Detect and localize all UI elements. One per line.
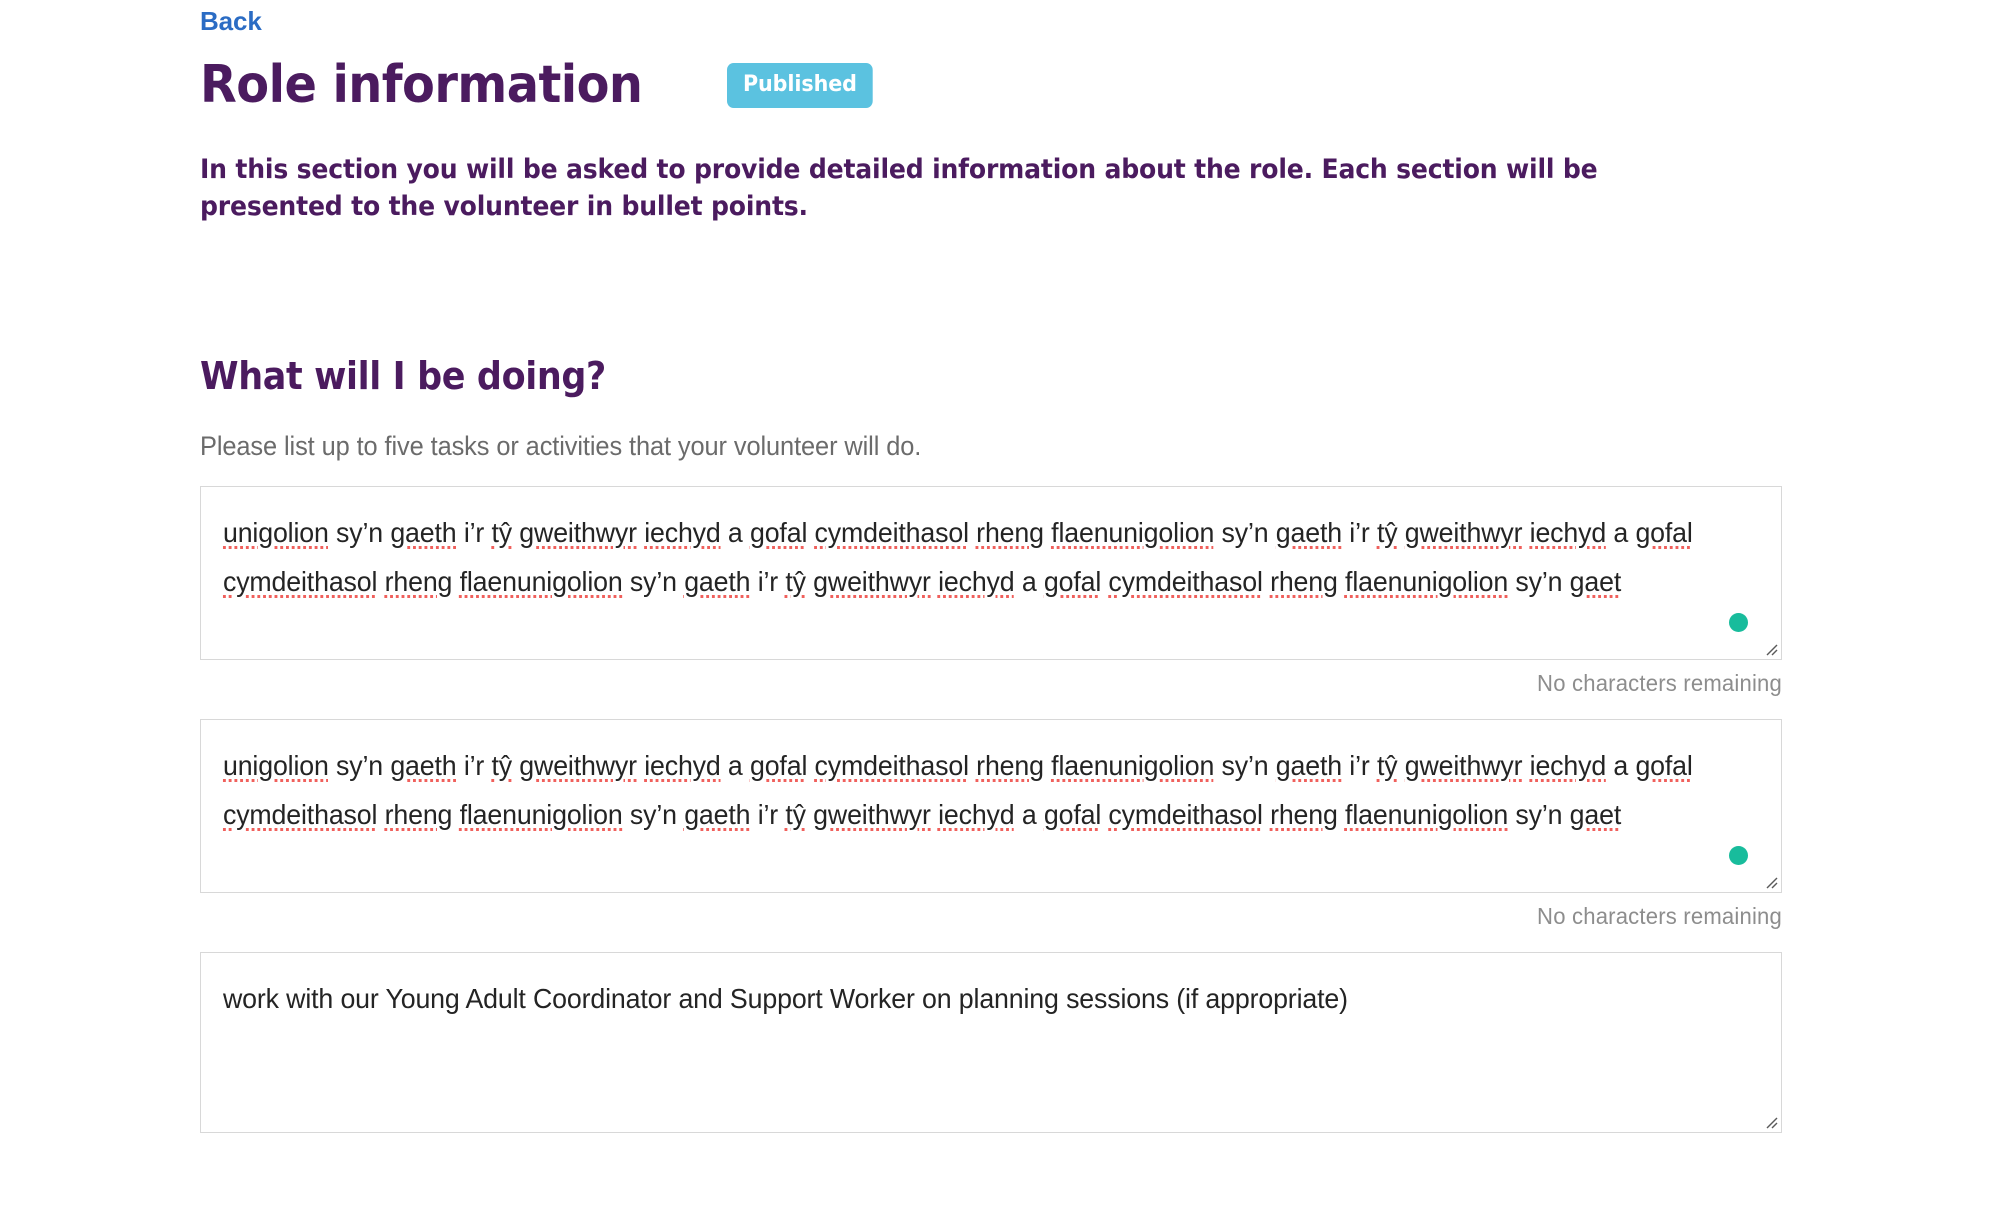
task-3-textarea[interactable]: work with our Young Adult Coordinator an…	[200, 952, 1782, 1133]
task-3-value[interactable]: work with our Young Adult Coordinator an…	[201, 953, 1767, 1023]
page-content: Back Role information Published In this …	[200, 0, 1782, 1133]
task-2-value[interactable]: unigolion sy’n gaeth i’r tŷ gweithwyr ie…	[201, 720, 1767, 839]
section-help-text: Please list up to five tasks or activiti…	[200, 429, 1687, 464]
task-1-valid-indicator-icon	[1729, 613, 1748, 632]
task-2-textarea[interactable]: unigolion sy’n gaeth i’r tŷ gweithwyr ie…	[200, 719, 1782, 893]
task-1-resize-handle[interactable]	[1760, 638, 1778, 656]
intro-paragraph: In this section you will be asked to pro…	[200, 151, 1660, 227]
task-2-valid-indicator-icon	[1729, 846, 1748, 865]
role-information-page: Back Role information Published In this …	[0, 0, 1994, 1206]
task-field-2: unigolion sy’n gaeth i’r tŷ gweithwyr ie…	[200, 719, 1782, 930]
task-1-value[interactable]: unigolion sy’n gaeth i’r tŷ gweithwyr ie…	[201, 487, 1767, 606]
back-link[interactable]: Back	[200, 6, 262, 36]
section-heading: What will I be doing?	[200, 356, 1655, 398]
task-field-1: unigolion sy’n gaeth i’r tŷ gweithwyr ie…	[200, 486, 1782, 697]
task-1-textarea[interactable]: unigolion sy’n gaeth i’r tŷ gweithwyr ie…	[200, 486, 1782, 660]
task-3-resize-handle[interactable]	[1760, 1111, 1778, 1129]
status-badge: Published	[727, 63, 873, 108]
task-1-char-note: No characters remaining	[263, 670, 1782, 697]
page-header: Role information Published	[200, 58, 1782, 113]
task-2-resize-handle[interactable]	[1760, 871, 1778, 889]
page-title: Role information	[200, 58, 642, 113]
task-2-char-note: No characters remaining	[263, 903, 1782, 930]
task-field-3: work with our Young Adult Coordinator an…	[200, 952, 1782, 1133]
